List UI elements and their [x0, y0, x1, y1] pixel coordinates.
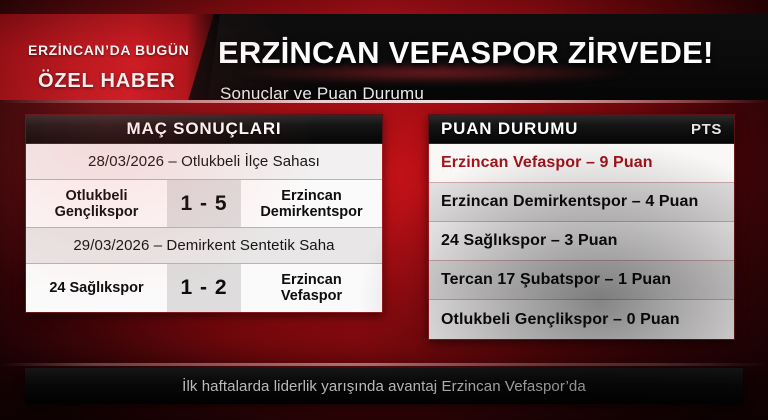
- list-item: Erzincan Vefaspor – 9 Puan: [429, 144, 734, 183]
- ticker-divider: [0, 363, 768, 366]
- table-row: 24 Sağlıkspor 1 - 2 Erzincan Vefaspor: [26, 264, 382, 312]
- match-venue-row: 29/03/2026 – Demirkent Sentetik Saha: [26, 228, 382, 264]
- standings-panel-header: PUAN DURUMU PTS: [428, 114, 735, 144]
- ticker-text: İlk haftalarda liderlik yarışında avanta…: [182, 378, 586, 395]
- list-item: Tercan 17 Şubatspor – 1 Puan: [429, 261, 734, 300]
- top-accent-strip: [0, 0, 768, 14]
- header-divider: [0, 100, 768, 103]
- standings-panel: PUAN DURUMU PTS Erzincan Vefaspor – 9 Pu…: [428, 114, 735, 340]
- match-score: 1 - 5: [167, 180, 241, 227]
- results-panel: MAÇ SONUÇLARI 28/03/2026 – Otlukbeli İlç…: [25, 114, 383, 313]
- broadcast-graphic: ERZİNCAN’DA BUGÜN ÖZEL HABER ERZİNCAN VE…: [0, 0, 768, 420]
- results-panel-body: 28/03/2026 – Otlukbeli İlçe Sahası Otluk…: [25, 144, 383, 313]
- ticker-bar: İlk haftalarda liderlik yarışında avanta…: [25, 368, 743, 404]
- points-column-header: PTS: [691, 121, 722, 138]
- match-venue-row: 28/03/2026 – Otlukbeli İlçe Sahası: [26, 144, 382, 180]
- standings-panel-body: Erzincan Vefaspor – 9 Puan Erzincan Demi…: [428, 144, 735, 340]
- results-panel-header: MAÇ SONUÇLARI: [25, 114, 383, 144]
- kicker-line-1: ERZİNCAN’DA BUGÜN: [28, 42, 189, 58]
- home-team-name: Otlukbeli Gençlikspor: [26, 180, 167, 227]
- standings-panel-title: PUAN DURUMU: [441, 119, 578, 139]
- match-score: 1 - 2: [167, 264, 241, 312]
- page-subtitle: Sonuçlar ve Puan Durumu: [220, 84, 424, 100]
- page-title: ERZİNCAN VEFASPOR ZİRVEDE!: [218, 36, 714, 70]
- home-team-name: 24 Sağlıkspor: [26, 264, 167, 312]
- results-panel-title: MAÇ SONUÇLARI: [127, 119, 282, 139]
- away-team-name: Erzincan Demirkentspor: [241, 180, 382, 227]
- list-item: Erzincan Demirkentspor – 4 Puan: [429, 183, 734, 222]
- kicker-line-2: ÖZEL HABER: [38, 70, 176, 93]
- header-band: ERZİNCAN’DA BUGÜN ÖZEL HABER ERZİNCAN VE…: [0, 14, 768, 100]
- away-team-name: Erzincan Vefaspor: [241, 264, 382, 312]
- list-item: Otlukbeli Gençlikspor – 0 Puan: [429, 300, 734, 339]
- list-item: 24 Sağlıkspor – 3 Puan: [429, 222, 734, 261]
- table-row: Otlukbeli Gençlikspor 1 - 5 Erzincan Dem…: [26, 180, 382, 228]
